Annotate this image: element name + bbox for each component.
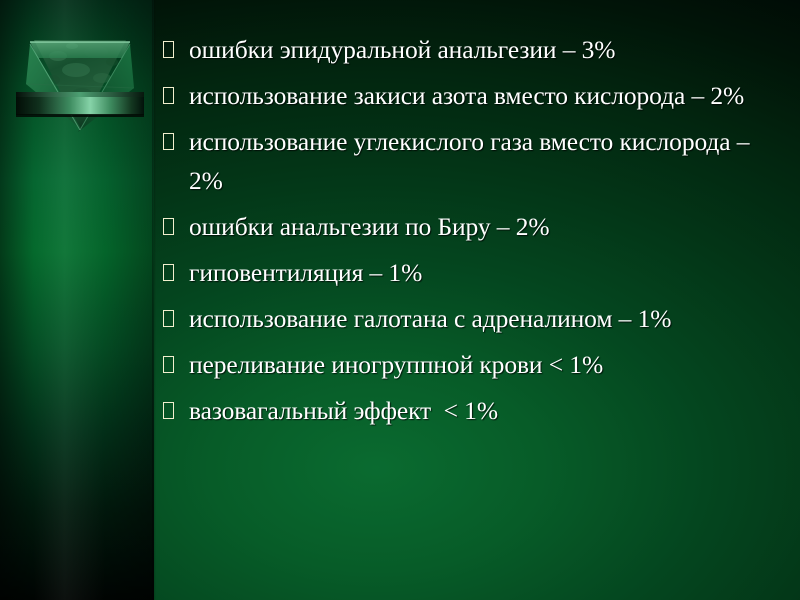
bullet-box-icon bbox=[163, 218, 174, 235]
marble-triangle-emblem-icon bbox=[12, 22, 148, 150]
slide-strip-edge bbox=[152, 0, 156, 600]
bullet-box-icon bbox=[163, 87, 174, 104]
list-item: гиповентиляция – 1% bbox=[163, 253, 788, 292]
bullet-box-icon bbox=[163, 402, 174, 419]
list-item: использование углекислого газа вместо ки… bbox=[163, 122, 788, 200]
list-item: вазовагальный эффект < 1% bbox=[163, 391, 788, 430]
list-item-text: переливание иногруппной крови < 1% bbox=[189, 345, 788, 384]
list-item: ошибки анальгезии по Биру – 2% bbox=[163, 207, 788, 246]
bullet-box-icon bbox=[163, 264, 174, 281]
list-item-text: использование углекислого газа вместо ки… bbox=[189, 122, 788, 200]
presentation-slide: ошибки эпидуральной анальгезии – 3% испо… bbox=[0, 0, 800, 600]
list-item-text: ошибки эпидуральной анальгезии – 3% bbox=[189, 30, 788, 69]
list-item-text: ошибки анальгезии по Биру – 2% bbox=[189, 207, 788, 246]
list-item: использование закиси азота вместо кислор… bbox=[163, 76, 788, 115]
bullet-box-icon bbox=[163, 310, 174, 327]
bullet-list: ошибки эпидуральной анальгезии – 3% испо… bbox=[163, 30, 788, 437]
list-item: использование галотана с адреналином – 1… bbox=[163, 299, 788, 338]
bullet-box-icon bbox=[163, 133, 174, 150]
bullet-box-icon bbox=[163, 41, 174, 58]
list-item-text: использование галотана с адреналином – 1… bbox=[189, 299, 788, 338]
list-item-text: использование закиси азота вместо кислор… bbox=[189, 76, 788, 115]
list-item-text: вазовагальный эффект < 1% bbox=[189, 391, 788, 430]
list-item: ошибки эпидуральной анальгезии – 3% bbox=[163, 30, 788, 69]
list-item: переливание иногруппной крови < 1% bbox=[163, 345, 788, 384]
list-item-text: гиповентиляция – 1% bbox=[189, 253, 788, 292]
bullet-box-icon bbox=[163, 356, 174, 373]
